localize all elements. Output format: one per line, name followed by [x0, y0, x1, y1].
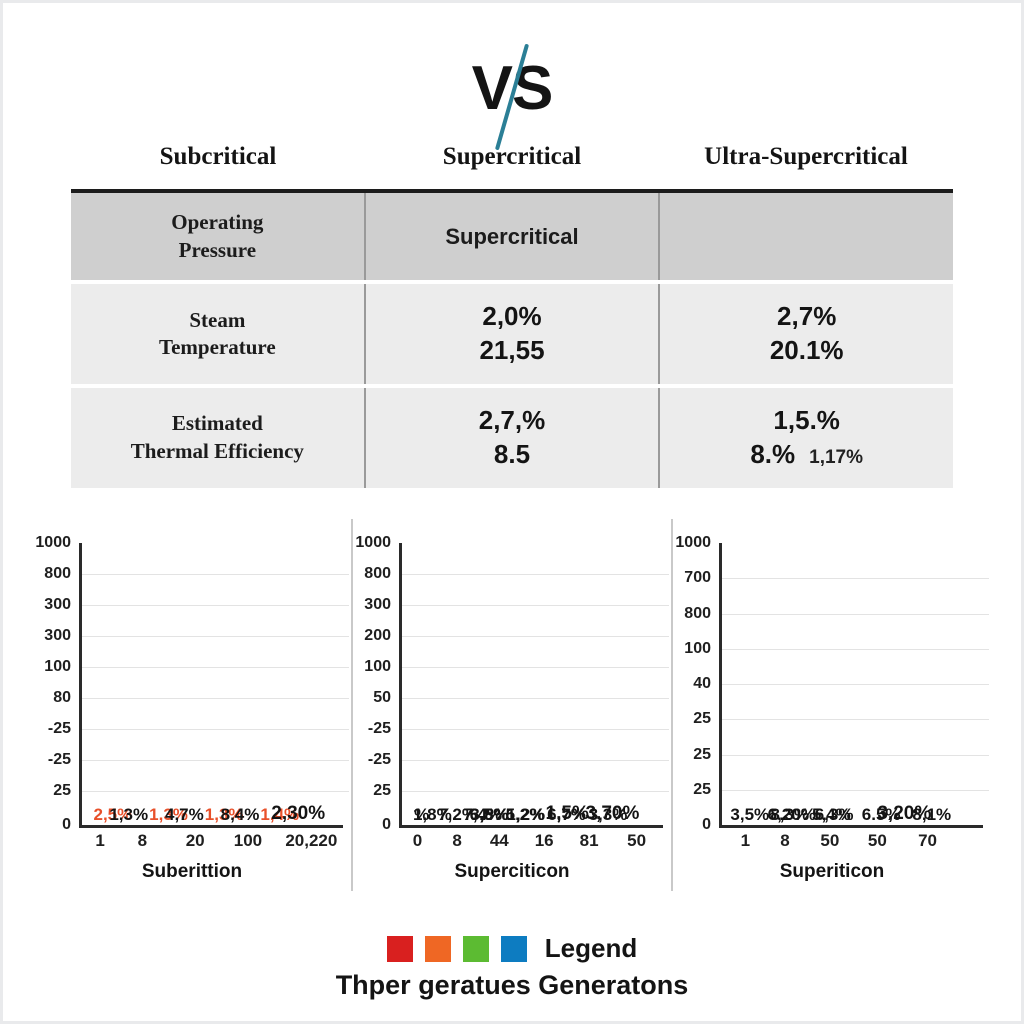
chart3-x-axis: 1 8 50 50 70 [719, 831, 983, 855]
blue-swatch-icon [501, 936, 527, 962]
row1-cell-ultra [658, 193, 953, 280]
chart1-x-title: Suberittion [33, 861, 351, 883]
bar-label: % [414, 805, 429, 825]
x-tick: 50 [820, 831, 839, 851]
chart-legend: Legend Thper geratues Generatons [3, 933, 1021, 1001]
chart3-x-title: Superiticon [673, 861, 991, 883]
row1-mid-value: Supercritical [445, 224, 578, 250]
bar-label: 1,3% [109, 805, 148, 825]
row-label-line2: Thermal Efficiency [131, 438, 304, 466]
column-header-subcritical: Subcritical [71, 143, 365, 171]
y-tick: 80 [53, 689, 71, 707]
table-row: Estimated Thermal Efficiency 2,7,% 8.5 1… [71, 388, 953, 488]
x-tick: 20,220 [285, 831, 337, 851]
row3-right-value-extra: 1,17% [809, 447, 863, 469]
y-tick: 0 [702, 816, 711, 834]
bar-label: 8,4% [221, 805, 260, 825]
column-headers: Subcritical Supercritical Ultra-Supercri… [71, 143, 953, 171]
row3-mid-value-2: 8.5 [494, 438, 530, 472]
chart-supercritical: 1000 800 300 200 100 50 -25 -25 25 0 [351, 519, 671, 891]
legend-subtitle: Thper geratues Generatons [336, 970, 689, 1001]
row-label-operating-pressure: Operating Pressure [71, 193, 364, 280]
x-tick: 70 [918, 831, 937, 851]
x-tick: 100 [234, 831, 262, 851]
chart2-x-title: Superciticon [353, 861, 671, 883]
y-tick: 800 [684, 605, 711, 623]
row-label-line1: Estimated [172, 410, 263, 438]
y-tick: 300 [44, 596, 71, 614]
row3-cell-ultra: 1,5.% 8.% 1,17% [658, 388, 953, 488]
bar-label: 3,70% [585, 803, 639, 825]
row-label-line1: Steam [189, 307, 245, 335]
chart3-plot-area: 3,5% 6,20% 8,3% [719, 543, 983, 828]
row3-right-value-1: 1,5.% [773, 404, 840, 438]
bar-label: 8,1% [912, 805, 951, 825]
x-tick: 50 [627, 831, 646, 851]
y-tick: 25 [373, 782, 391, 800]
charts-row: 1000 800 300 300 100 80 -25 -25 25 0 [33, 519, 991, 891]
row2-cell-ultra: 2,7% 20.1% [658, 284, 953, 384]
chart-ultra-supercritical: 1000 700 800 100 40 25 25 25 0 [671, 519, 991, 891]
chart3-bars: 3,5% 6,20% 8,3% [722, 543, 983, 825]
chart2-plot-area: 1,8% % 7,2% [399, 543, 663, 828]
row3-right-value-row: 8.% 1,17% [750, 438, 863, 472]
bar-label: 1,5% [546, 803, 589, 825]
y-tick: -25 [368, 751, 391, 769]
y-tick: 1000 [675, 534, 711, 552]
x-tick: 16 [535, 831, 554, 851]
y-tick: 1000 [355, 534, 391, 552]
vs-label-wrapper: VS [472, 58, 553, 120]
x-tick: 8 [452, 831, 461, 851]
y-tick: 300 [364, 596, 391, 614]
y-tick: 300 [44, 627, 71, 645]
table-row: Steam Temperature 2,0% 21,55 2,7% 20.1% [71, 284, 953, 384]
y-tick: 25 [53, 782, 71, 800]
x-tick: 8 [780, 831, 789, 851]
x-tick: 44 [490, 831, 509, 851]
chart1-x-axis: 1 8 20 100 20,220 [79, 831, 343, 855]
y-tick: 50 [373, 689, 391, 707]
x-tick: 81 [580, 831, 599, 851]
column-header-supercritical: Supercritical [365, 143, 659, 171]
row2-mid-value-2: 21,55 [479, 334, 544, 368]
y-tick: 100 [684, 640, 711, 658]
chart1-bars: 2,5% 1,3% 1,3% 4,7% [82, 543, 343, 825]
chart2-bars: 1,8% % 7,2% [402, 543, 663, 825]
chart3-y-axis: 1000 700 800 100 40 25 25 25 0 [673, 543, 717, 825]
row1-cell-supercritical: Supercritical [364, 193, 659, 280]
legend-swatch-row: Legend [387, 933, 637, 964]
bar-label: 4,7% [165, 805, 204, 825]
bar-label: 6,3% [815, 805, 854, 825]
orange-swatch-icon [425, 936, 451, 962]
row3-mid-value-1: 2,7,% [479, 404, 546, 438]
row-label-thermal-efficiency: Estimated Thermal Efficiency [71, 388, 364, 488]
table-row: Operating Pressure Supercritical [71, 193, 953, 280]
bar-label: 6,5% [470, 805, 509, 825]
y-tick: 100 [44, 658, 71, 676]
chart2-y-axis: 1000 800 300 200 100 50 -25 -25 25 0 [353, 543, 397, 825]
row-label-line2: Pressure [179, 237, 256, 265]
row-label-steam-temperature: Steam Temperature [71, 284, 364, 384]
column-header-ultra-supercritical: Ultra-Supercritical [659, 143, 953, 171]
row-label-line1: Operating [171, 209, 263, 237]
y-tick: 25 [693, 746, 711, 764]
x-tick: 20 [186, 831, 205, 851]
y-tick: 25 [693, 781, 711, 799]
green-swatch-icon [463, 936, 489, 962]
y-tick: -25 [48, 720, 71, 738]
row2-right-value-2: 20.1% [770, 334, 844, 368]
vs-header: VS [3, 49, 1021, 129]
y-tick: 40 [693, 675, 711, 693]
row2-cell-supercritical: 2,0% 21,55 [364, 284, 659, 384]
legend-title: Legend [545, 933, 637, 964]
chart1-y-axis: 1000 800 300 300 100 80 -25 -25 25 0 [33, 543, 77, 825]
x-tick: 1 [95, 831, 104, 851]
row3-right-value-2: 8.% [750, 438, 795, 472]
chart1-plot-area: 2,5% 1,3% 1,3% 4,7% [79, 543, 343, 828]
bar-label: 3,5% [730, 805, 769, 825]
row3-cell-supercritical: 2,7,% 8.5 [364, 388, 659, 488]
red-swatch-icon [387, 936, 413, 962]
y-tick: 100 [364, 658, 391, 676]
row-label-line2: Temperature [159, 334, 276, 362]
y-tick: 200 [364, 627, 391, 645]
x-tick: 1 [741, 831, 750, 851]
y-tick: 25 [693, 710, 711, 728]
x-tick: 50 [868, 831, 887, 851]
chart2-x-axis: 0 8 44 16 81 50 [399, 831, 663, 855]
bar-label: 8,3% [770, 805, 809, 825]
bar-label: 2,30% [271, 803, 325, 825]
y-tick: 800 [44, 565, 71, 583]
comparison-table: Operating Pressure Supercritical Steam T… [71, 189, 953, 488]
row2-mid-value-1: 2,0% [482, 300, 541, 334]
infographic-page: VS Subcritical Supercritical Ultra-Super… [0, 0, 1024, 1024]
row2-right-value-1: 2,7% [777, 300, 836, 334]
y-tick: 1000 [35, 534, 71, 552]
x-tick: 8 [138, 831, 147, 851]
x-tick: 0 [413, 831, 422, 851]
y-tick: 700 [684, 569, 711, 587]
y-tick: -25 [48, 751, 71, 769]
bar-label: 1,2% [506, 805, 545, 825]
y-tick: -25 [368, 720, 391, 738]
y-tick: 0 [62, 816, 71, 834]
chart-subcritical: 1000 800 300 300 100 80 -25 -25 25 0 [33, 519, 351, 891]
y-tick: 0 [382, 816, 391, 834]
y-tick: 800 [364, 565, 391, 583]
